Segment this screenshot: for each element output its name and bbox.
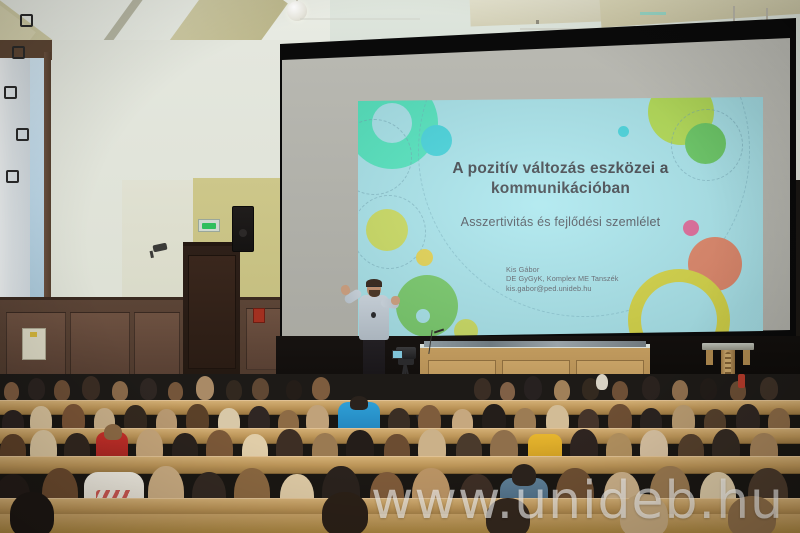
presentation-slide: A pozitív változás eszközei a kommunikác… [358, 97, 763, 337]
slide-title: A pozitív változás eszközei a kommunikác… [398, 159, 723, 199]
fire-alarm-box [253, 308, 265, 323]
curtain-hook-icon [6, 170, 19, 183]
credit-name: Kis Gábor [506, 265, 706, 274]
curtain-hook-icon [12, 46, 25, 59]
presenter-badge [371, 312, 376, 318]
curtain-hook-icon [20, 14, 33, 27]
water-bottle [738, 374, 745, 388]
audience-person-head [512, 464, 536, 486]
credit-email: kis.gabor@ped.unideb.hu [506, 284, 706, 293]
decor-cyan-dot [618, 126, 629, 137]
door-panel [188, 255, 236, 369]
lectern-top [702, 343, 754, 350]
audience-person-foreground [620, 494, 668, 533]
credit-affiliation: DE GyGyK, Komplex ME Tanszék [506, 274, 706, 283]
wall-notice [22, 328, 46, 360]
ceiling-rail [300, 18, 420, 20]
curtain-hook-icon [4, 86, 17, 99]
decor-yellowgreen-dot [454, 319, 478, 337]
window-frame [44, 52, 51, 312]
desk-equipment [424, 341, 646, 347]
wall-panel [70, 312, 130, 376]
exit-sign-icon [202, 223, 216, 229]
ceiling-fitting [536, 20, 539, 24]
decor-green-circle [396, 275, 458, 337]
exit-sign [198, 219, 220, 232]
decor-green-circle-hole [416, 309, 430, 323]
audience-person-blonde [596, 374, 608, 390]
audience-person-foreground [10, 492, 54, 533]
decor-yellow-dot [416, 249, 433, 266]
lectern-arm [706, 350, 713, 365]
lectern-arm [743, 350, 750, 365]
camera-screen [392, 350, 403, 359]
curtain-hook-icon [16, 128, 29, 141]
audience-person-foreground [322, 492, 368, 533]
audience-person-head [104, 424, 122, 440]
bench-front-edge [0, 514, 800, 533]
audience-person-head [350, 396, 368, 410]
presenter-legs [363, 337, 385, 377]
pendant-lamp [296, 0, 298, 2]
wall-panel [134, 312, 180, 376]
slide-subtitle: Asszertivitás és fejlődési szemlélet [398, 215, 723, 229]
ceiling-light-strip [640, 12, 666, 15]
lecture-hall-photo: A pozitív változás eszközei a kommunikác… [0, 0, 800, 533]
presenter-beard [369, 290, 380, 297]
audience-person-foreground [486, 498, 530, 533]
slide-credit: Kis Gábor DE GyGyK, Komplex ME Tanszék k… [506, 265, 706, 293]
presenter-hand-right [391, 296, 400, 305]
wall-speaker [232, 206, 254, 252]
audience-person-foreground [728, 496, 776, 533]
